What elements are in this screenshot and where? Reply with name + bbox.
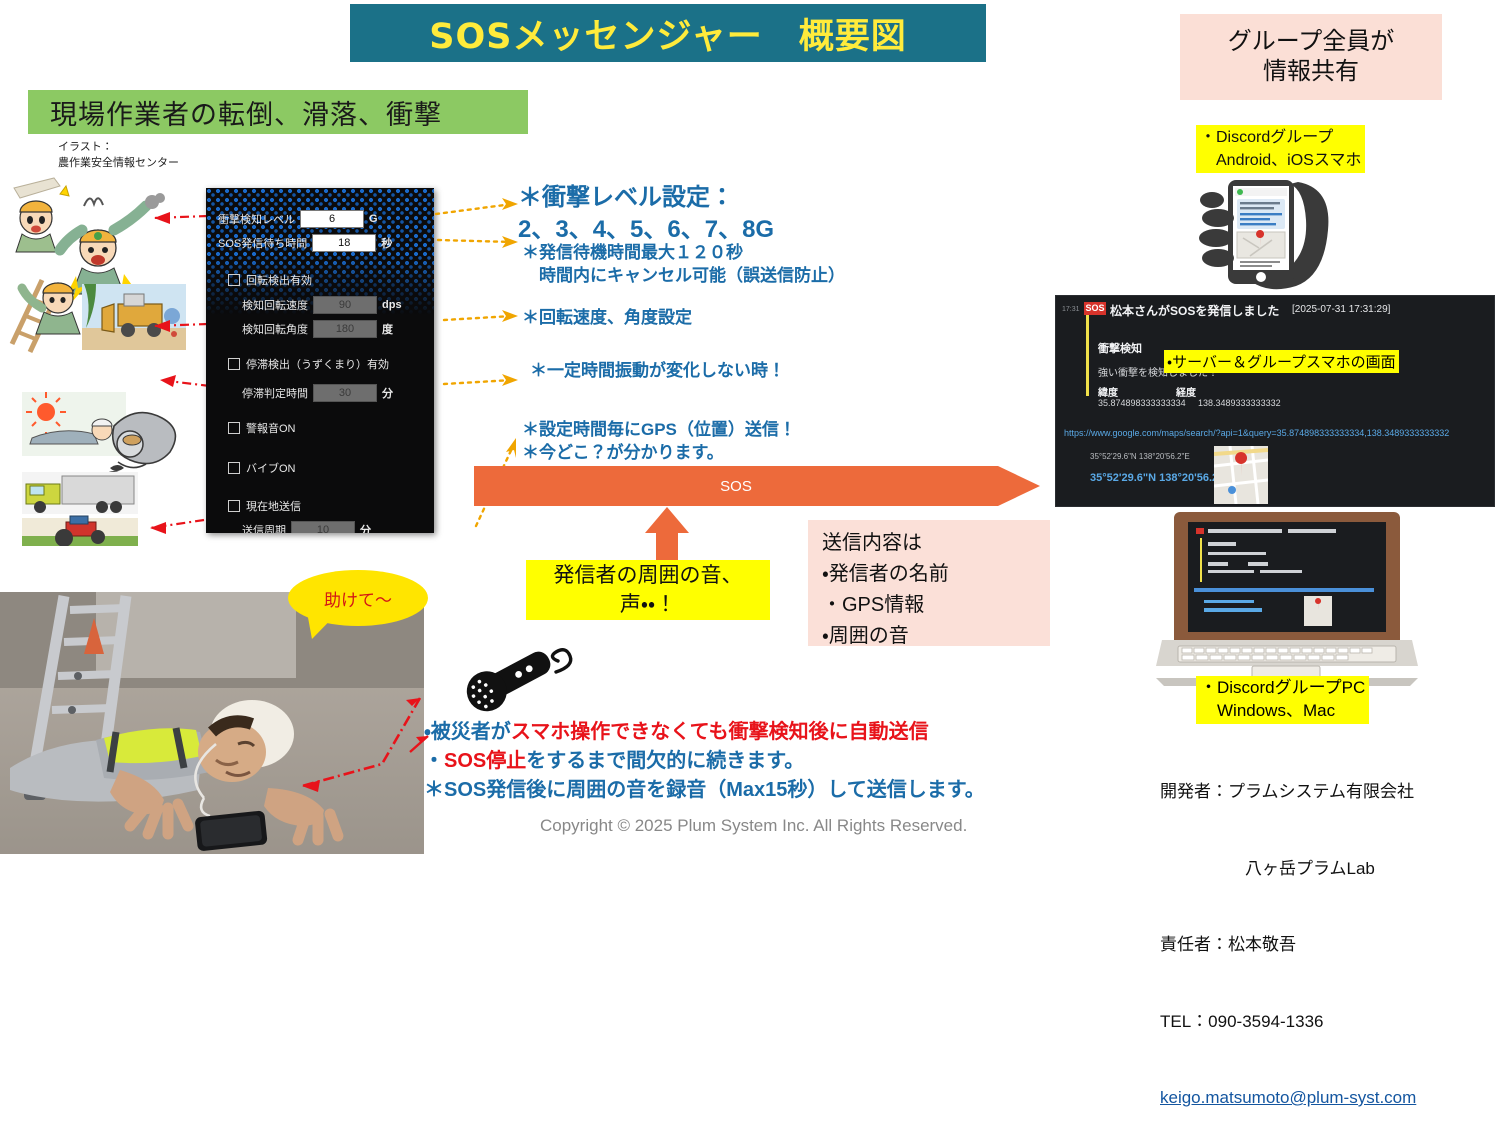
ambient-sound-box: 発信者の周囲の音、 声・・！ [526,560,770,620]
server-screen-label: ・サーバー＆グループスマホの画面 [1164,350,1399,373]
setting-stagnation-time-unit: 分 [382,385,393,401]
help-speech-bubble: 助けて〜 [288,570,428,632]
setting-rotation-speed-input[interactable]: 90 [313,296,377,314]
sos-badge: SOS [1084,302,1106,315]
illustration-tractor [22,516,138,546]
note-wait-time: ＊発信待機時間最大１２０秒 時間内にキャンセル可能（誤送信防止） [522,242,845,288]
setting-rotation-speed[interactable]: 検知回転速度 90 dps [242,296,402,314]
setting-rotation-angle-unit: 度 [382,321,393,337]
contact-developer: 開発者：プラムシステム有限会社 [1160,779,1416,805]
setting-sos-wait-input[interactable]: 18 [312,234,376,252]
feature-line-2: ＊SOS発信後に周囲の音を録音（Max15秒）して送信します。 [424,776,985,805]
sos-content-item-2: ・周囲の音 [822,621,1050,652]
setting-rotation-angle-label: 検知回転角度 [242,321,308,337]
setting-rotation-speed-label: 検知回転速度 [242,297,308,313]
sos-arrow-label: SOS [474,466,998,506]
discord-phone-label: ・Discordグループ Android、iOSスマホ [1196,125,1365,173]
checkbox-stagnation-enable-label: 停滞検出（うずくまり）有効 [246,356,389,372]
laptop-illustration [1156,508,1418,690]
illustration-heatstroke [22,392,126,456]
checkbox-rotation-enable[interactable]: 回転検出有効 [228,272,312,288]
copyright-notice: Copyright © 2025 Plum System Inc. All Ri… [540,816,967,836]
note-stagnation: ＊一定時間振動が変化しない時！ [530,360,785,383]
feature-line-2-part-0: ＊SOS発信後に周囲の音を録音（Max15秒）して送信します。 [424,779,985,801]
feature-line-0: ・被災者がスマホ操作できなくても衝撃検知後に自動送信 [424,718,985,747]
setting-stagnation-time[interactable]: 停滞判定時間 30 分 [242,384,393,402]
setting-send-interval-unit: 分 [360,522,371,533]
sos-content-box: 送信内容は ・発信者の名前 ・GPS情報 ・周囲の音 [808,520,1050,646]
setting-sos-wait-label: SOS発信待ち時間 [218,235,307,251]
feature-line-0-part-1: スマホ操作できなくても衝撃検知後に自動送信 [511,721,929,743]
discord-lat-label: 緯度 [1098,384,1118,399]
feature-line-1-part-0: ・ [424,750,444,772]
sos-content-heading: 送信内容は [822,528,1050,559]
setting-shock-level[interactable]: 衝撃検知レベル 6 G [218,210,378,228]
contact-email-link[interactable]: keigo.matsumoto@plum-syst.com [1160,1085,1416,1111]
page-title: SOSメッセンジャー 概要図 [429,8,906,59]
discord-map-link[interactable]: https://www.google.com/maps/search/?api=… [1064,428,1449,438]
checkbox-location-send-label: 現在地送信 [246,498,301,514]
sos-arrow-head [998,466,1040,506]
checkbox-vibration-label: バイブON [246,460,296,476]
microphone-icon [448,636,588,720]
app-settings-panel[interactable]: 衝撃検知レベル 6 G SOS発信待ち時間 18 秒 回転検出有効 検知回転速度… [206,188,434,533]
discord-message-time: 17:31 [1062,306,1080,313]
contact-info-block: 開発者：プラムシステム有限会社 八ヶ岳プラムLab 責任者：松本敬吾 TEL：0… [1160,728,1416,1136]
setting-rotation-speed-unit: dps [382,299,402,311]
feature-line-1-part-1: SOS停止 [444,750,526,772]
checkbox-vibration[interactable]: バイブON [228,460,296,476]
setting-sos-wait[interactable]: SOS発信待ち時間 18 秒 [218,234,392,252]
discord-embed-title: 衝撃検知 [1098,340,1142,356]
note-gps: ＊設定時間毎にGPS（位置）送信！ ＊今どこ？が分かります。 [522,419,796,465]
illustration-ladder-fall [12,280,80,352]
feature-line-1-part-2: をするまで間欠的に続きます。 [526,750,804,772]
discord-lon-value: 138.3489333333332 [1198,398,1281,408]
discord-message-header: 松本さんがSOSを発信しました [1110,302,1279,319]
section-header-label: 現場作業者の転倒、滑落、衝撃 [28,93,442,132]
group-share-label: グループ全員が 情報共有 [1228,27,1395,87]
note-shock-level: ＊衝撃レベル設定： 2、3、4、5、6、7、8G [518,182,774,247]
illustration-truck [22,472,138,514]
note-rotation: ＊回転速度、角度設定 [522,307,692,330]
hand-holding-phone-illustration [1188,172,1348,292]
bubble-text: 助けて〜 [288,570,428,626]
setting-sos-wait-unit: 秒 [381,235,392,251]
checkbox-icon[interactable] [228,358,240,370]
checkbox-icon[interactable] [228,462,240,474]
illustration-credit: イラスト： 農作業安全情報センター [58,140,179,172]
checkbox-alarm-sound[interactable]: 警報音ON [228,420,296,436]
discord-lat-value: 35.874898333333334 [1098,398,1186,408]
checkbox-stagnation-enable[interactable]: 停滞検出（うずくまり）有効 [228,356,389,372]
checkbox-icon[interactable] [228,500,240,512]
accident-illustrations [6,176,206,546]
discord-pc-label: ・DiscordグループPC Windows、Mac [1196,676,1369,724]
discord-message-timestamp: [2025-07-31 17:31:29] [1292,304,1390,315]
setting-rotation-angle[interactable]: 検知回転角度 180 度 [242,320,393,338]
group-share-box: グループ全員が 情報共有 [1180,14,1442,100]
setting-send-interval-input[interactable]: 10 [291,521,355,533]
checkbox-location-send[interactable]: 現在地送信 [228,498,301,514]
contact-manager: 責任者：松本敬吾 [1160,932,1416,958]
setting-send-interval[interactable]: 送信周期 10 分 [242,521,371,533]
setting-shock-level-label: 衝撃検知レベル [218,211,295,227]
feature-summary-lines: ・被災者がスマホ操作できなくても衝撃検知後に自動送信 ・SOS停止をするまで間欠… [424,718,985,805]
sos-flow-arrow: SOS [474,466,1040,506]
setting-send-interval-label: 送信周期 [242,522,286,533]
discord-server-screenshot: 17:31 SOS 松本さんがSOSを発信しました [2025-07-31 17… [1056,296,1494,506]
illustration-bulldozer [82,284,186,350]
setting-shock-level-input[interactable]: 6 [300,210,364,228]
discord-coord-large: 35°52'29.6"N 138°20'56.2"E [1090,472,1231,484]
contact-developer-lab: 八ヶ岳プラムLab [1160,856,1416,882]
discord-coord-small: 35°52'29.6"N 138°20'56.2"E [1090,452,1190,461]
sos-content-item-1: ・GPS情報 [822,590,1050,621]
sos-content-item-0: ・発信者の名前 [822,559,1050,590]
feature-line-0-part-0: ・被災者が [424,721,511,743]
discord-lon-label: 経度 [1176,384,1196,399]
section-header-accidents: 現場作業者の転倒、滑落、衝撃 [28,90,528,134]
checkbox-alarm-sound-label: 警報音ON [246,420,296,436]
checkbox-rotation-enable-label: 回転検出有効 [246,272,312,288]
setting-shock-level-unit: G [369,213,378,225]
setting-stagnation-time-input[interactable]: 30 [313,384,377,402]
contact-tel: TEL：090-3594-1336 [1160,1009,1416,1035]
setting-stagnation-time-label: 停滞判定時間 [242,385,308,401]
setting-rotation-angle-input[interactable]: 180 [313,320,377,338]
checkbox-icon[interactable] [228,422,240,434]
discord-embed-bar [1086,304,1089,396]
map-thumbnail[interactable] [1214,446,1268,504]
page-title-banner: SOSメッセンジャー 概要図 [350,4,986,62]
feature-line-1: ・SOS停止をするまで間欠的に続きます。 [424,747,985,776]
checkbox-icon[interactable] [228,274,240,286]
